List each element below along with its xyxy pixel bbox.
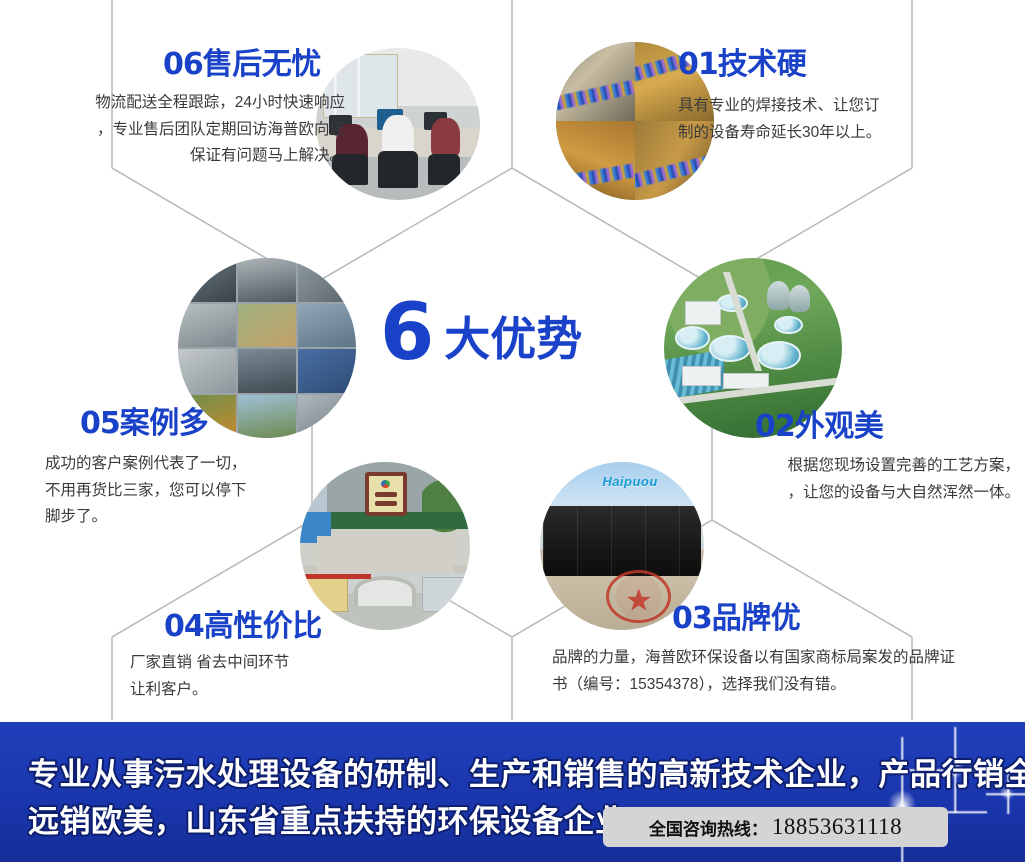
advantage-03-number: 03 [672,601,712,636]
advantage-06-line-1: 物流配送全程跟踪，24小时快速响应 [0,90,345,117]
advantage-04-heading: 04高性价比 [164,612,322,642]
advantage-02-heading: 02外观美 [755,412,883,442]
advantage-03-description: 品牌的力量，海普欧环保设备以有国家商标局案发的品牌证 书（编号：15354378… [552,645,1022,698]
advantage-01-title: 技术硬 [718,48,807,81]
advantage-02-number: 02 [755,409,795,444]
advantage-04-line-2: 让利客户。 [130,677,450,704]
advantage-05-number: 05 [80,406,120,441]
advantage-05-heading: 05案例多 [80,409,208,439]
hotline-number: 18853631118 [772,814,902,840]
advantage-06-line-2: ，专业售后团队定期回访海普欧向您 [0,117,345,144]
advantage-01-heading: 01技术硬 [678,50,806,80]
center-suffix: 大优势 [444,313,582,365]
hotline-box[interactable]: 全国咨询热线： 18853631118 [603,807,948,847]
advantage-02-description: 根据您现场设置完善的工艺方案， ，让您的设备与大自然浑然一体。 [668,453,1020,506]
advantage-06-line-3: 保证有问题马上解决。 [0,143,345,170]
advantage-04-number: 04 [164,609,204,644]
advantage-02-line-1: 根据您现场设置完善的工艺方案， [668,453,1020,480]
hotline-label: 全国咨询热线： [649,815,768,840]
advantage-03-line-2: 书（编号：15354378），选择我们没有错。 [552,672,1022,699]
advantage-02-line-2: ，让您的设备与大自然浑然一体。 [668,480,1020,507]
advantage-03-line-1: 品牌的力量，海普欧环保设备以有国家商标局案发的品牌证 [552,645,1022,672]
haipuou-logo-text: Haipuou [602,474,677,494]
advantage-03-heading: 03品牌优 [672,604,800,634]
advantage-01-description: 具有专业的焊接技术、让您订 制的设备寿命延长30年以上。 [678,93,1023,146]
advantage-04-description: 厂家直销 省去中间环节 让利客户。 [130,650,450,703]
center-label: 6大优势 [380,294,670,384]
advantage-01-line-2: 制的设备寿命延长30年以上。 [678,120,1023,147]
advantage-06-title: 售后无忧 [203,48,321,81]
factory-gate-photo [300,462,470,630]
center-number: 6 [380,288,434,378]
advantage-03-title: 品牌优 [712,602,801,635]
advantage-01-number: 01 [678,47,718,82]
advantage-05-title: 案例多 [120,407,209,440]
advantage-04-title: 高性价比 [204,610,322,643]
banner-line-1: 专业从事污水处理设备的研制、生产和销售的高新技术企业，产品行销全国并 [28,752,918,799]
advantage-04-line-1: 厂家直销 省去中间环节 [130,650,450,677]
trademark-stamp-icon [606,570,672,624]
advantage-01-line-1: 具有专业的焊接技术、让您订 [678,93,1023,120]
advantage-06-number: 06 [163,47,203,82]
advantage-06-description: 物流配送全程跟踪，24小时快速响应 ，专业售后团队定期回访海普欧向您 保证有问题… [0,90,345,170]
advantage-06-heading: 06售后无忧 [163,50,321,80]
advantage-02-title: 外观美 [795,410,884,443]
advantages-diagram: 06售后无忧 物流配送全程跟踪，24小时快速响应 ，专业售后团队定期回访海普欧向… [0,0,1025,720]
